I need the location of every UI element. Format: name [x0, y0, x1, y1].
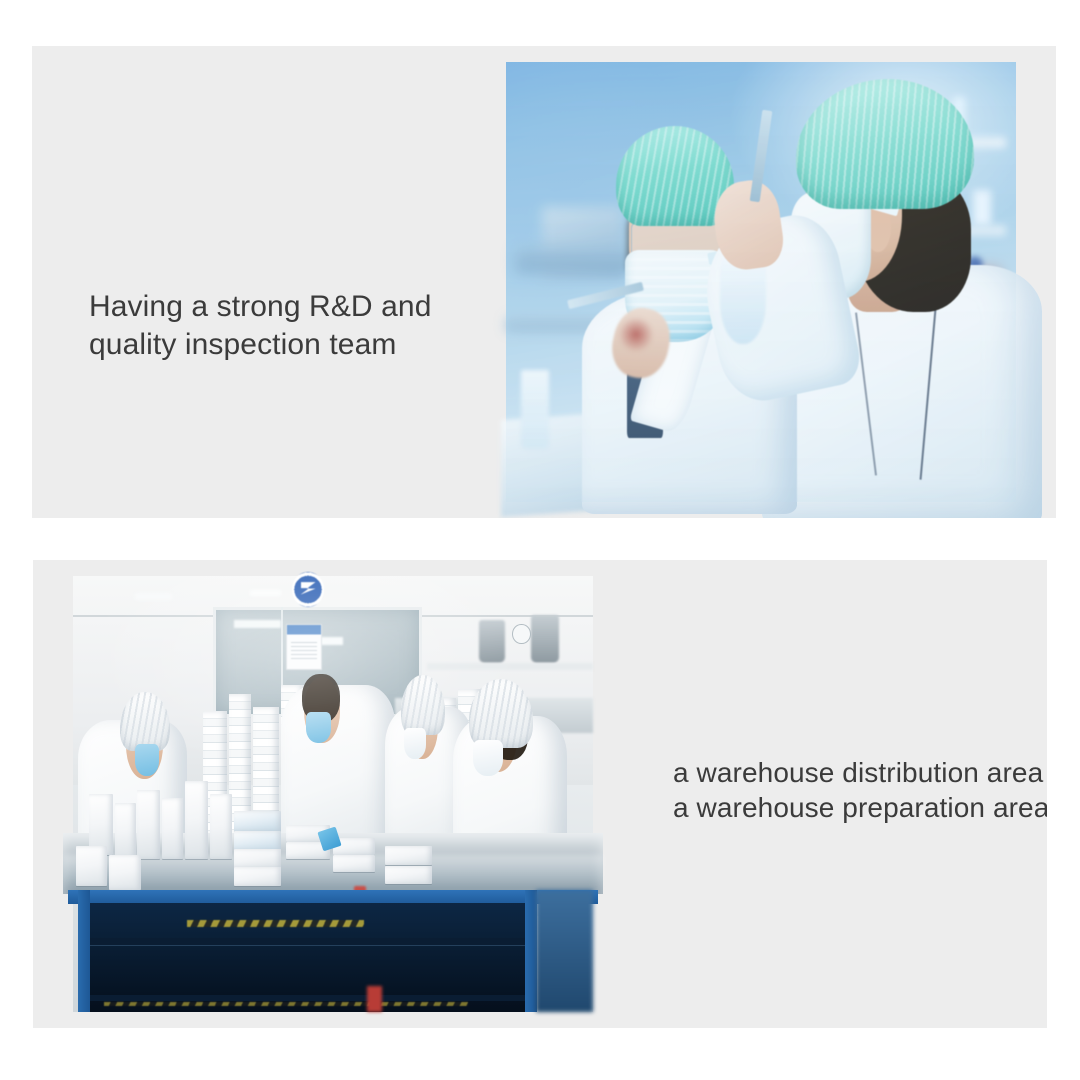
warehouse-ceiling-lamp-left: [135, 593, 171, 600]
warehouse-table-cross-bar-lower: [89, 995, 526, 1001]
lab-beaker: [521, 370, 549, 449]
panel-rnd-caption-text: Having a strong R&D and quality inspecti…: [89, 288, 469, 364]
carton-front-j: [333, 855, 375, 872]
lab-hairnet-right: [796, 79, 973, 208]
carton-front-d: [162, 798, 183, 859]
lab-quality-inspection-photo: [506, 62, 1016, 502]
panel-warehouse-caption-column: a warehouse distribution area a warehous…: [633, 560, 1047, 1028]
carton-front-f: [210, 794, 232, 859]
warehouse-notice-board: [286, 624, 322, 670]
carton-front-blue-b: [234, 831, 281, 850]
warehouse-packing-photo: [73, 576, 593, 1012]
carton-front-n: [109, 855, 140, 890]
warehouse-table-frame-top-rail: [68, 890, 598, 904]
warehouse-ceiling-lamp-right: [250, 590, 281, 596]
panel-warehouse-caption-text: a warehouse distribution area a warehous…: [673, 755, 1047, 825]
warehouse-hairnet-right: [469, 679, 533, 747]
page-root: Having a strong R&D and quality inspecti…: [0, 0, 1080, 1080]
carton-front-blue-a: [234, 811, 281, 831]
carton-front-blue-d: [234, 867, 281, 885]
red-tool-marker-b: [367, 986, 383, 1012]
carton-front-c: [137, 790, 160, 860]
warehouse-wall-shelf: [427, 663, 593, 670]
panel-warehouse-photo-column: [33, 560, 633, 1028]
panel-rnd-quality: Having a strong R&D and quality inspecti…: [32, 46, 1056, 518]
warehouse-blue-floor-strip: [536, 890, 593, 1012]
carton-front-l: [385, 866, 432, 884]
lab-red-sample-splash: [618, 317, 654, 352]
carton-front-e: [185, 781, 208, 859]
panel-warehouse-areas: a warehouse distribution area a warehous…: [33, 560, 1047, 1028]
warehouse-white-mask-right: [473, 740, 503, 776]
warehouse-white-mask-mid-right: [404, 728, 425, 759]
carton-front-blue-c: [234, 849, 281, 868]
warehouse-floor-hazard-tape-lower: [104, 1002, 468, 1007]
warehouse-floor-hazard-tape-upper: [187, 920, 364, 926]
warehouse-steel-pot-b: [531, 615, 560, 663]
panel-rnd-photo-column: [466, 46, 1056, 518]
warehouse-table-leg-left: [78, 890, 89, 1012]
carton-front-m: [76, 846, 107, 885]
warehouse-window-light-reflection-a: [234, 620, 281, 629]
panel-rnd-caption-column: Having a strong R&D and quality inspecti…: [32, 46, 466, 518]
warehouse-steel-pot-a: [479, 620, 505, 664]
warehouse-blue-mask-left: [135, 744, 159, 775]
warehouse-table-cross-bar-upper: [89, 938, 526, 945]
carton-front-k: [385, 846, 432, 865]
carton-front-b: [115, 803, 137, 860]
warehouse-wall-logo-icon: [292, 572, 323, 607]
warehouse-blue-mask-center: [306, 712, 331, 743]
